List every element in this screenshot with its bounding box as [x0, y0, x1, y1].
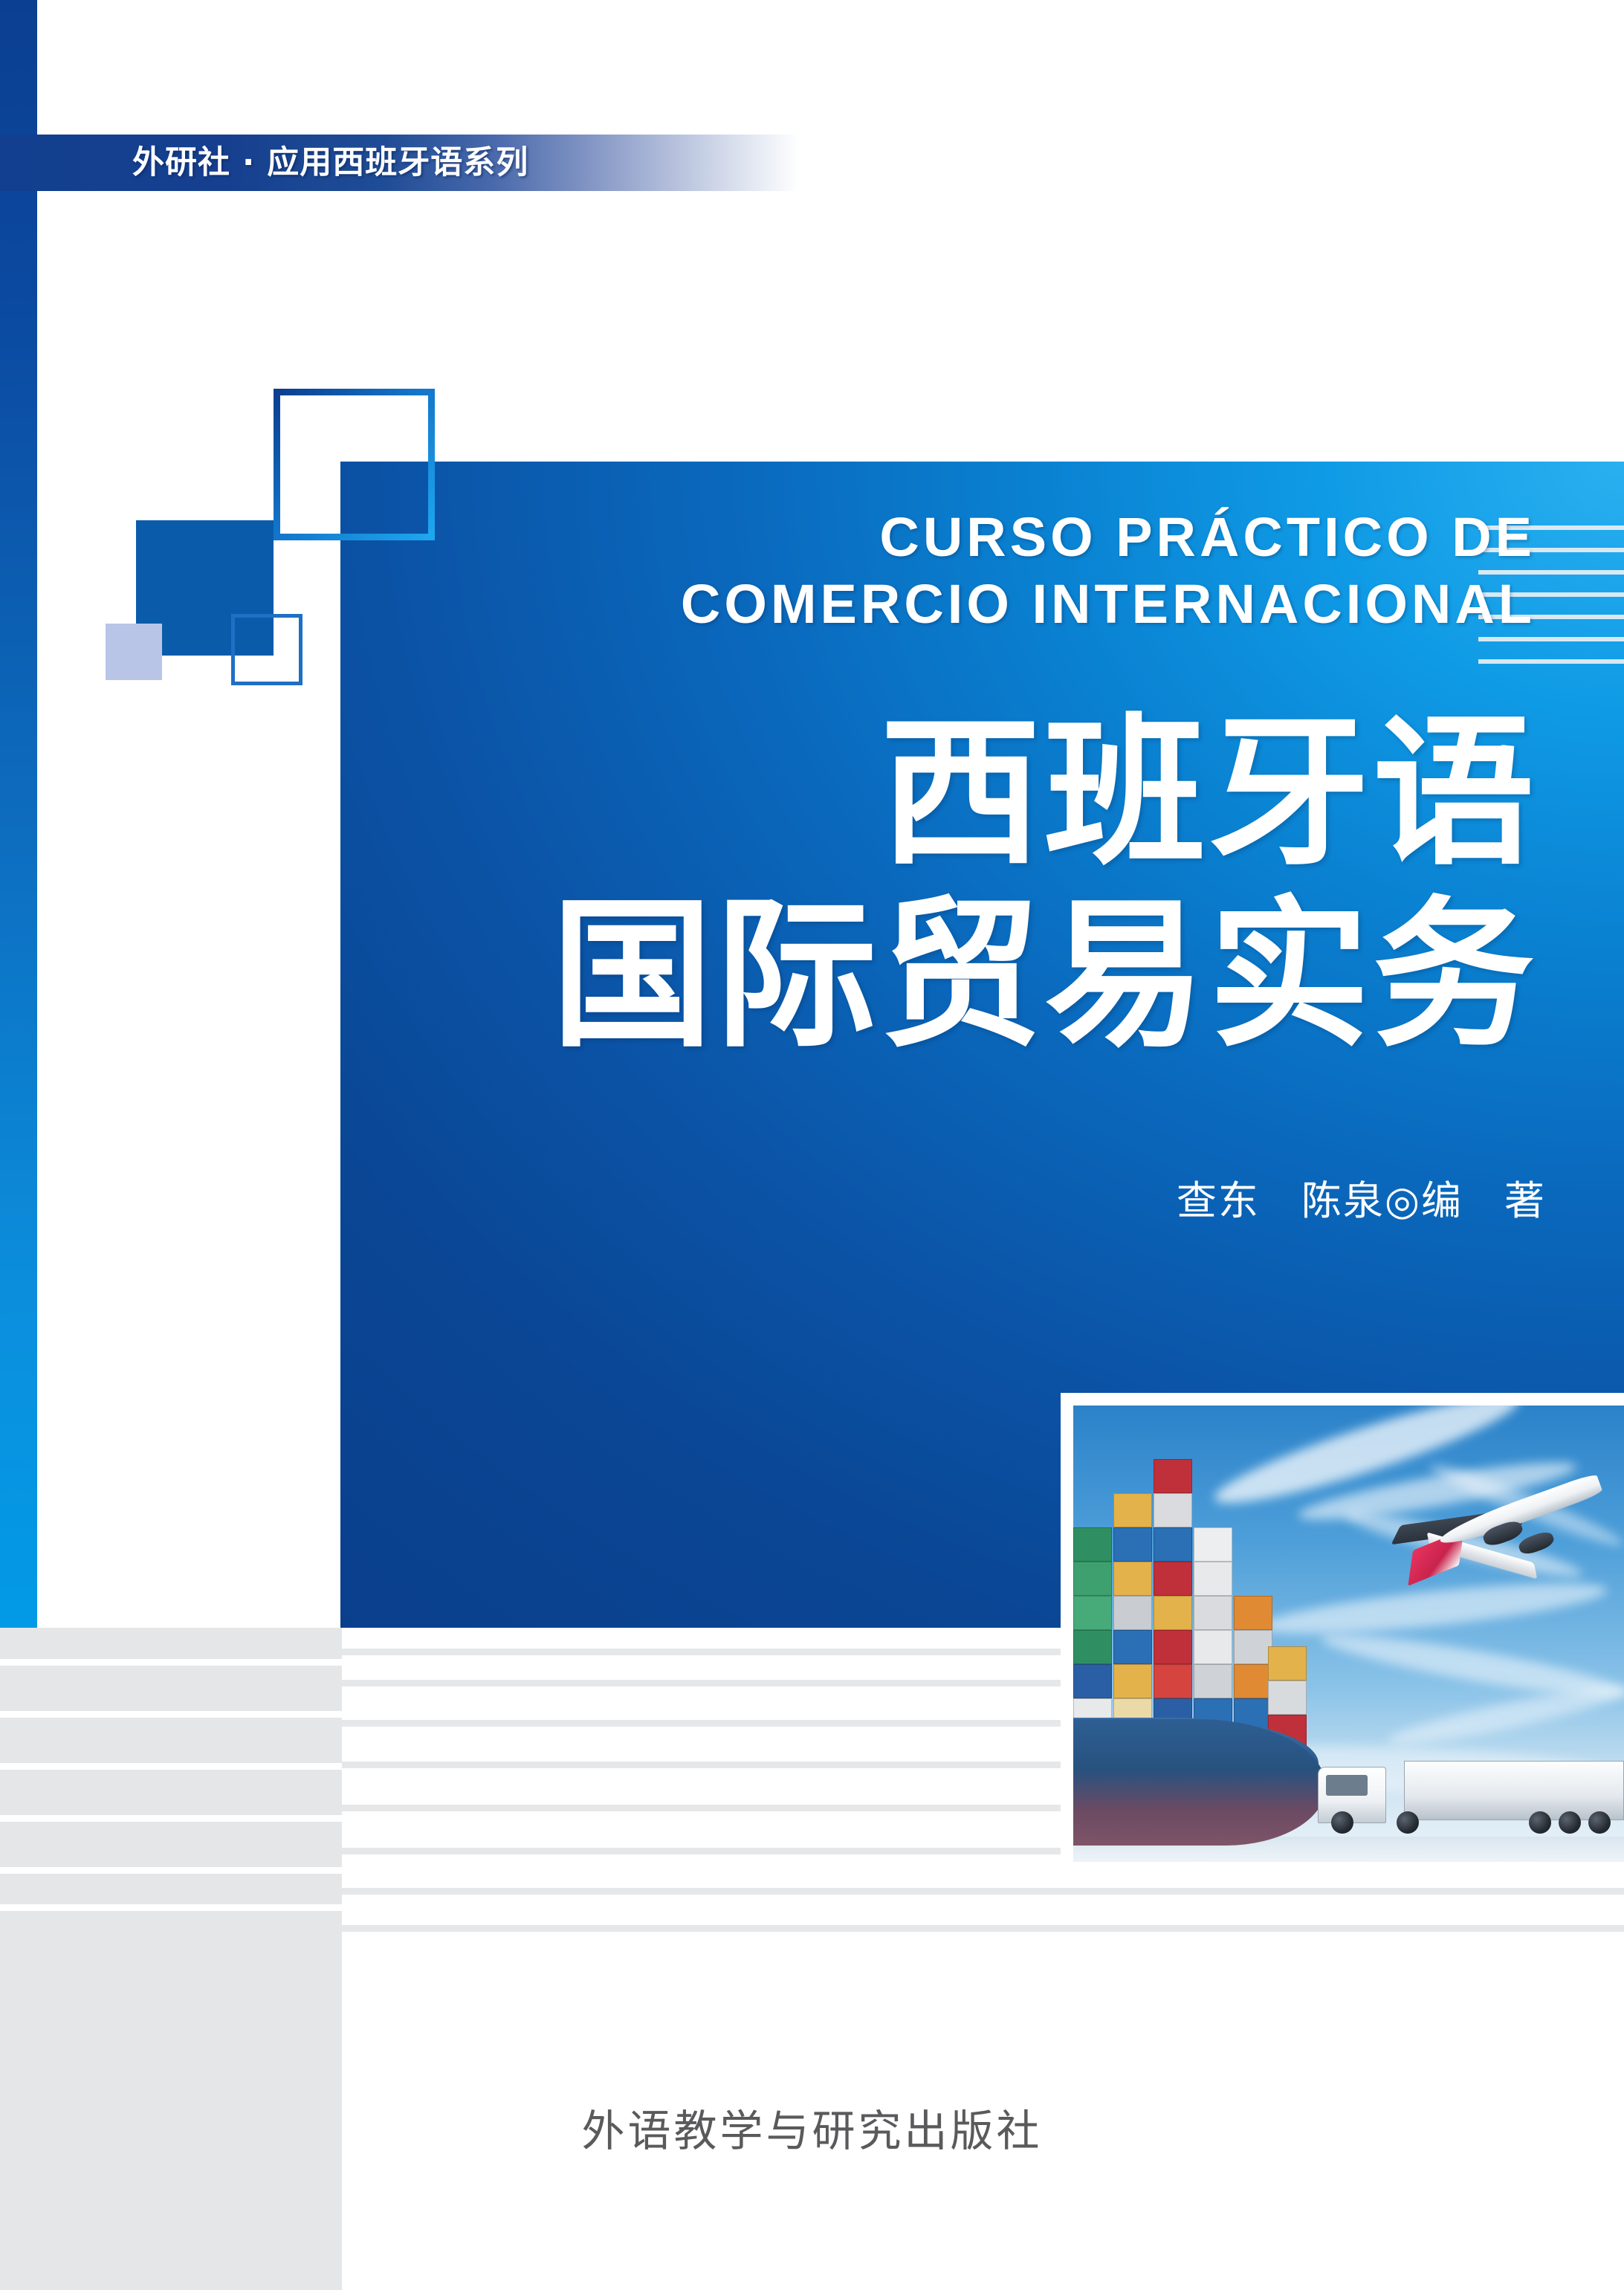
subtitle-line-1: CURSO PRÁCTICO DE	[340, 504, 1536, 571]
shipping-container-stack	[1073, 1461, 1307, 1750]
filled-square-light	[106, 624, 162, 680]
truck-trailer	[1404, 1761, 1624, 1820]
page-title: 西班牙语 国际贸易实务	[340, 703, 1537, 1067]
gray-gap	[0, 1867, 342, 1874]
outline-square-large	[274, 389, 435, 540]
title-line-1: 西班牙语	[340, 703, 1537, 885]
gray-gap	[0, 1659, 342, 1666]
book-cover: 外研社 · 应用西班牙语系列 CURSO PRÁCTICO DE COMERCI…	[0, 0, 1624, 2290]
hairline	[342, 1925, 1624, 1932]
outline-square-small	[231, 614, 303, 685]
gray-band-block	[0, 1628, 342, 2290]
truck-cab	[1318, 1767, 1386, 1823]
cloud-icon	[1385, 1678, 1624, 1753]
airplane-icon	[1392, 1471, 1608, 1597]
gray-gap	[0, 1904, 342, 1911]
logistics-photo	[1073, 1406, 1624, 1862]
truck-wheel	[1331, 1811, 1353, 1834]
gray-gap	[0, 1815, 342, 1822]
truck-wheel	[1397, 1811, 1419, 1834]
airplane-engine	[1517, 1529, 1556, 1556]
gray-gap	[0, 1711, 342, 1718]
hairline	[342, 1888, 1624, 1895]
publisher-name: 外语教学与研究出版社	[0, 2096, 1624, 2158]
truck-wheel	[1559, 1811, 1581, 1834]
author-credit: 查东 陈泉◎编 著	[340, 1168, 1546, 1226]
left-accent-strip	[0, 0, 37, 1628]
spanish-subtitle: CURSO PRÁCTICO DE COMERCIO INTERNACIONAL	[340, 504, 1536, 638]
gray-gap	[0, 1763, 342, 1770]
truck-wheel	[1529, 1811, 1551, 1834]
series-banner-label: 外研社 · 应用西班牙语系列	[132, 139, 771, 187]
truck-windshield	[1326, 1775, 1368, 1796]
title-line-2: 国际贸易实务	[340, 885, 1537, 1067]
truck-icon	[1313, 1750, 1624, 1840]
hairline	[1478, 659, 1624, 664]
airplane-fuselage	[1437, 1472, 1604, 1551]
truck-wheel	[1588, 1811, 1611, 1834]
cover-photo-frame	[1061, 1393, 1624, 1862]
subtitle-line-2: COMERCIO INTERNACIONAL	[340, 571, 1536, 638]
ship-hull	[1073, 1719, 1326, 1846]
